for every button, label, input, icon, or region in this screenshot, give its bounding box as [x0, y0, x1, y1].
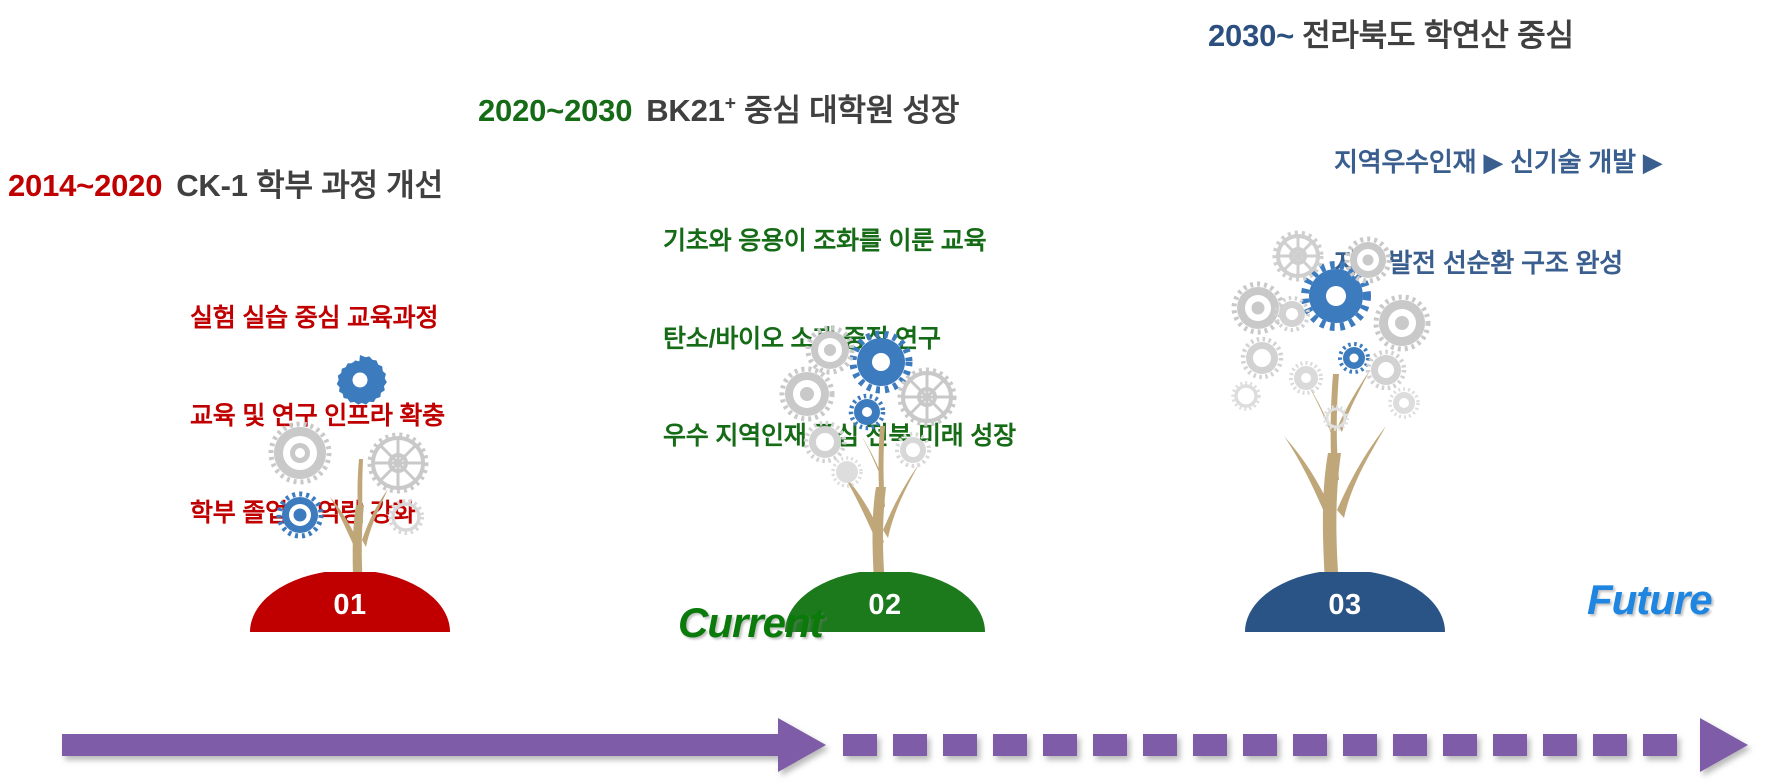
timeline-arrow: [0, 0, 1785, 784]
timeline-future-label: Future: [1587, 576, 1712, 624]
timeline-dashed-segment: [843, 734, 1677, 756]
infographic-canvas: 2014~2020CK-1 학부 과정 개선 실험 실습 중심 교육과정 교육 …: [0, 0, 1785, 784]
timeline-solid-segment: [62, 734, 780, 756]
timeline-end-arrowhead: [1700, 718, 1748, 772]
timeline-current-label: Current: [678, 599, 823, 647]
timeline-mid-arrowhead: [778, 718, 826, 772]
